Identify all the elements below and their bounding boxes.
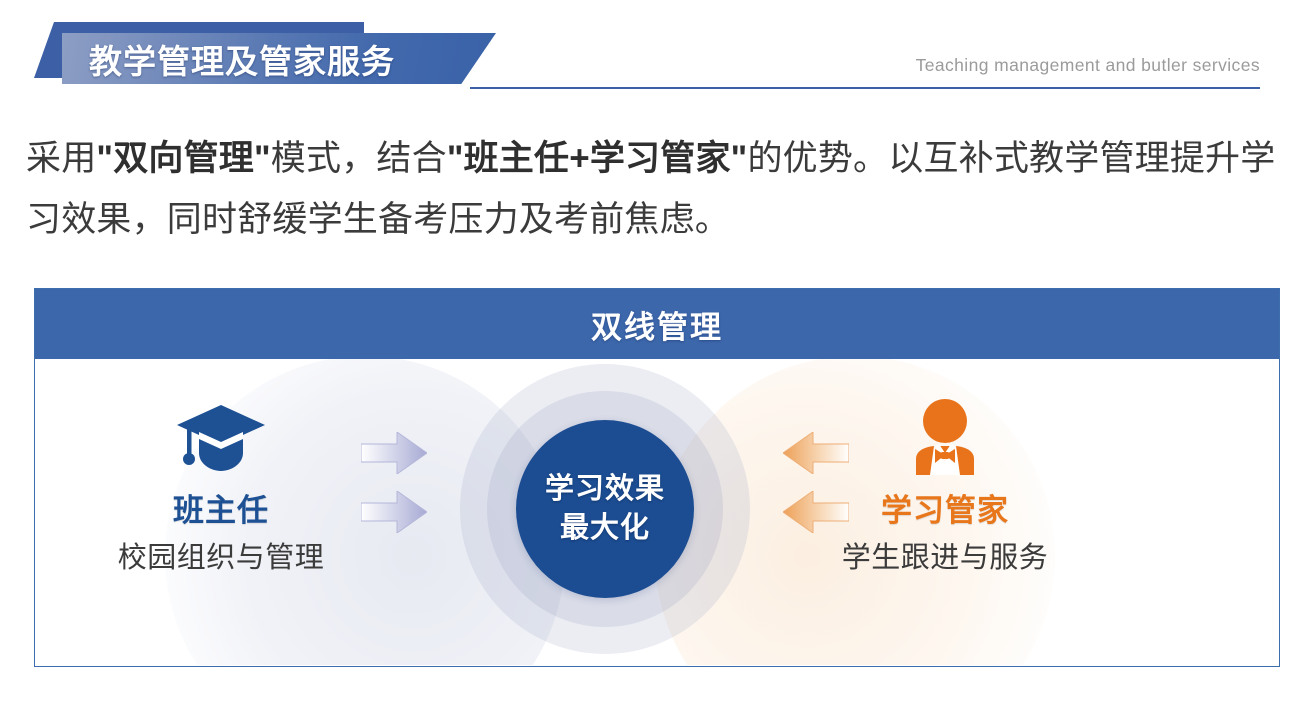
page-title: 教学管理及管家服务 [89,35,395,83]
left-role-title: 班主任 [71,485,371,530]
page-header: 教学管理及管家服务 Teaching management and butler… [0,0,1312,100]
card-body: 学习效果 最大化 [35,359,1279,665]
left-role-subtitle: 校园组织与管理 [71,534,371,576]
center-goal-circle: 学习效果 最大化 [516,420,694,598]
header-divider-line [470,87,1260,89]
paragraph-text-1: 采用 [26,139,96,178]
right-role-title: 学习管家 [795,485,1095,530]
card-header-title: 双线管理 [591,302,723,347]
paragraph-bold-1: "双向管理" [96,139,270,178]
left-role-block: 班主任 校园组织与管理 [71,387,371,576]
header-subtitle-english: Teaching management and butler services [916,55,1260,76]
paragraph-text-2: 模式，结合 [271,139,447,178]
butler-person-icon [795,387,1095,475]
center-goal-line-2: 最大化 [560,509,650,548]
center-goal-line-1: 学习效果 [545,470,665,509]
card-header: 双线管理 [35,289,1279,359]
right-role-block: 学习管家 学生跟进与服务 [795,387,1095,576]
paragraph-bold-2: "班主任+学习管家" [447,139,748,178]
right-role-subtitle: 学生跟进与服务 [795,534,1095,576]
graduation-cap-icon [71,387,371,475]
intro-paragraph: 采用"双向管理"模式，结合"班主任+学习管家"的优势。以互补式教学管理提升学习效… [26,128,1296,250]
header-banner: 教学管理及管家服务 [62,33,496,84]
dual-line-management-card: 双线管理 学习效果 最大化 [34,288,1280,667]
